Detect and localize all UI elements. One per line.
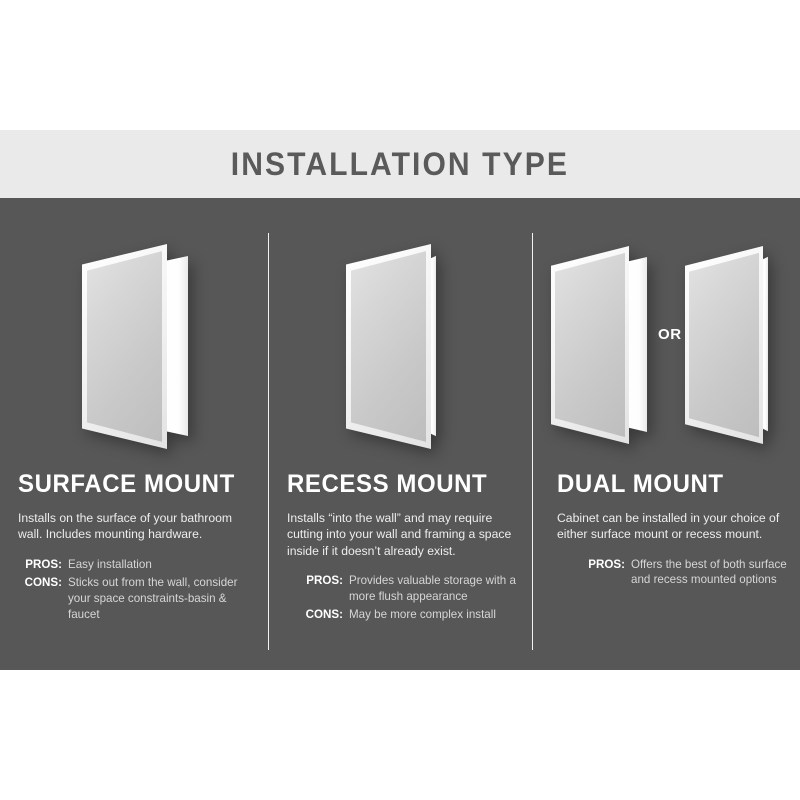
recess-mount-illustration [269,226,532,466]
content-panel: SURFACE MOUNT Installs on the surface of… [0,198,800,670]
cabinet-mirror-face [351,244,426,449]
pros-row: PROS: Offers the best of both surface an… [581,557,795,588]
pros-label: PROS: [18,557,68,573]
dual-mount-text-block: DUAL MOUNT Cabinet can be installed in y… [557,470,795,591]
pros-label: PROS: [299,573,349,589]
surface-mount-proscons: PROS: Easy installation CONS: Sticks out… [18,557,256,622]
column-dual-mount: OR DUAL MOUNT Cabinet can be installed i… [533,198,800,670]
cons-row: CONS: Sticks out from the wall, consider… [18,575,256,622]
infographic-page: INSTALLATION TYPE SURFACE MOUNT Installs… [0,0,800,800]
or-separator-label: OR [658,326,682,343]
dual-mount-proscons: PROS: Offers the best of both surface an… [581,557,795,588]
dual-mount-cabinet-surface [551,246,666,444]
recess-mount-proscons: PROS: Provides valuable storage with a m… [299,573,521,623]
title-band: INSTALLATION TYPE [0,130,800,198]
cons-value: Sticks out from the wall, consider your … [68,575,256,622]
pros-label: PROS: [581,557,631,573]
surface-mount-cabinet [82,244,202,449]
cabinet-mirror-face [87,244,162,449]
surface-mount-text-block: SURFACE MOUNT Installs on the surface of… [18,470,256,625]
surface-mount-heading: SURFACE MOUNT [18,470,246,499]
pros-row: PROS: Provides valuable storage with a m… [299,573,521,604]
surface-mount-illustration [0,226,268,466]
pros-value: Easy installation [68,557,256,573]
column-recess-mount: RECESS MOUNT Installs “into the wall” an… [269,198,532,670]
dual-mount-cabinet-recess [685,246,790,444]
cabinet-mirror-face [689,246,759,444]
cons-label: CONS: [18,575,68,591]
pros-value: Offers the best of both surface and rece… [631,557,795,588]
recess-mount-text-block: RECESS MOUNT Installs “into the wall” an… [287,470,521,626]
pros-row: PROS: Easy installation [18,557,256,573]
cons-value: May be more complex install [349,607,521,623]
recess-mount-cabinet [346,244,456,449]
page-title: INSTALLATION TYPE [231,146,569,183]
cons-label: CONS: [299,607,349,623]
dual-mount-description: Cabinet can be installed in your choice … [557,510,795,543]
dual-mount-heading: DUAL MOUNT [557,470,785,499]
cons-row: CONS: May be more complex install [299,607,521,623]
dual-mount-illustration: OR [533,226,800,466]
recess-mount-heading: RECESS MOUNT [287,470,512,499]
column-surface-mount: SURFACE MOUNT Installs on the surface of… [0,198,268,670]
recess-mount-description: Installs “into the wall” and may require… [287,510,521,559]
pros-value: Provides valuable storage with a more fl… [349,573,521,604]
cabinet-mirror-face [555,246,625,444]
surface-mount-description: Installs on the surface of your bathroom… [18,510,256,543]
